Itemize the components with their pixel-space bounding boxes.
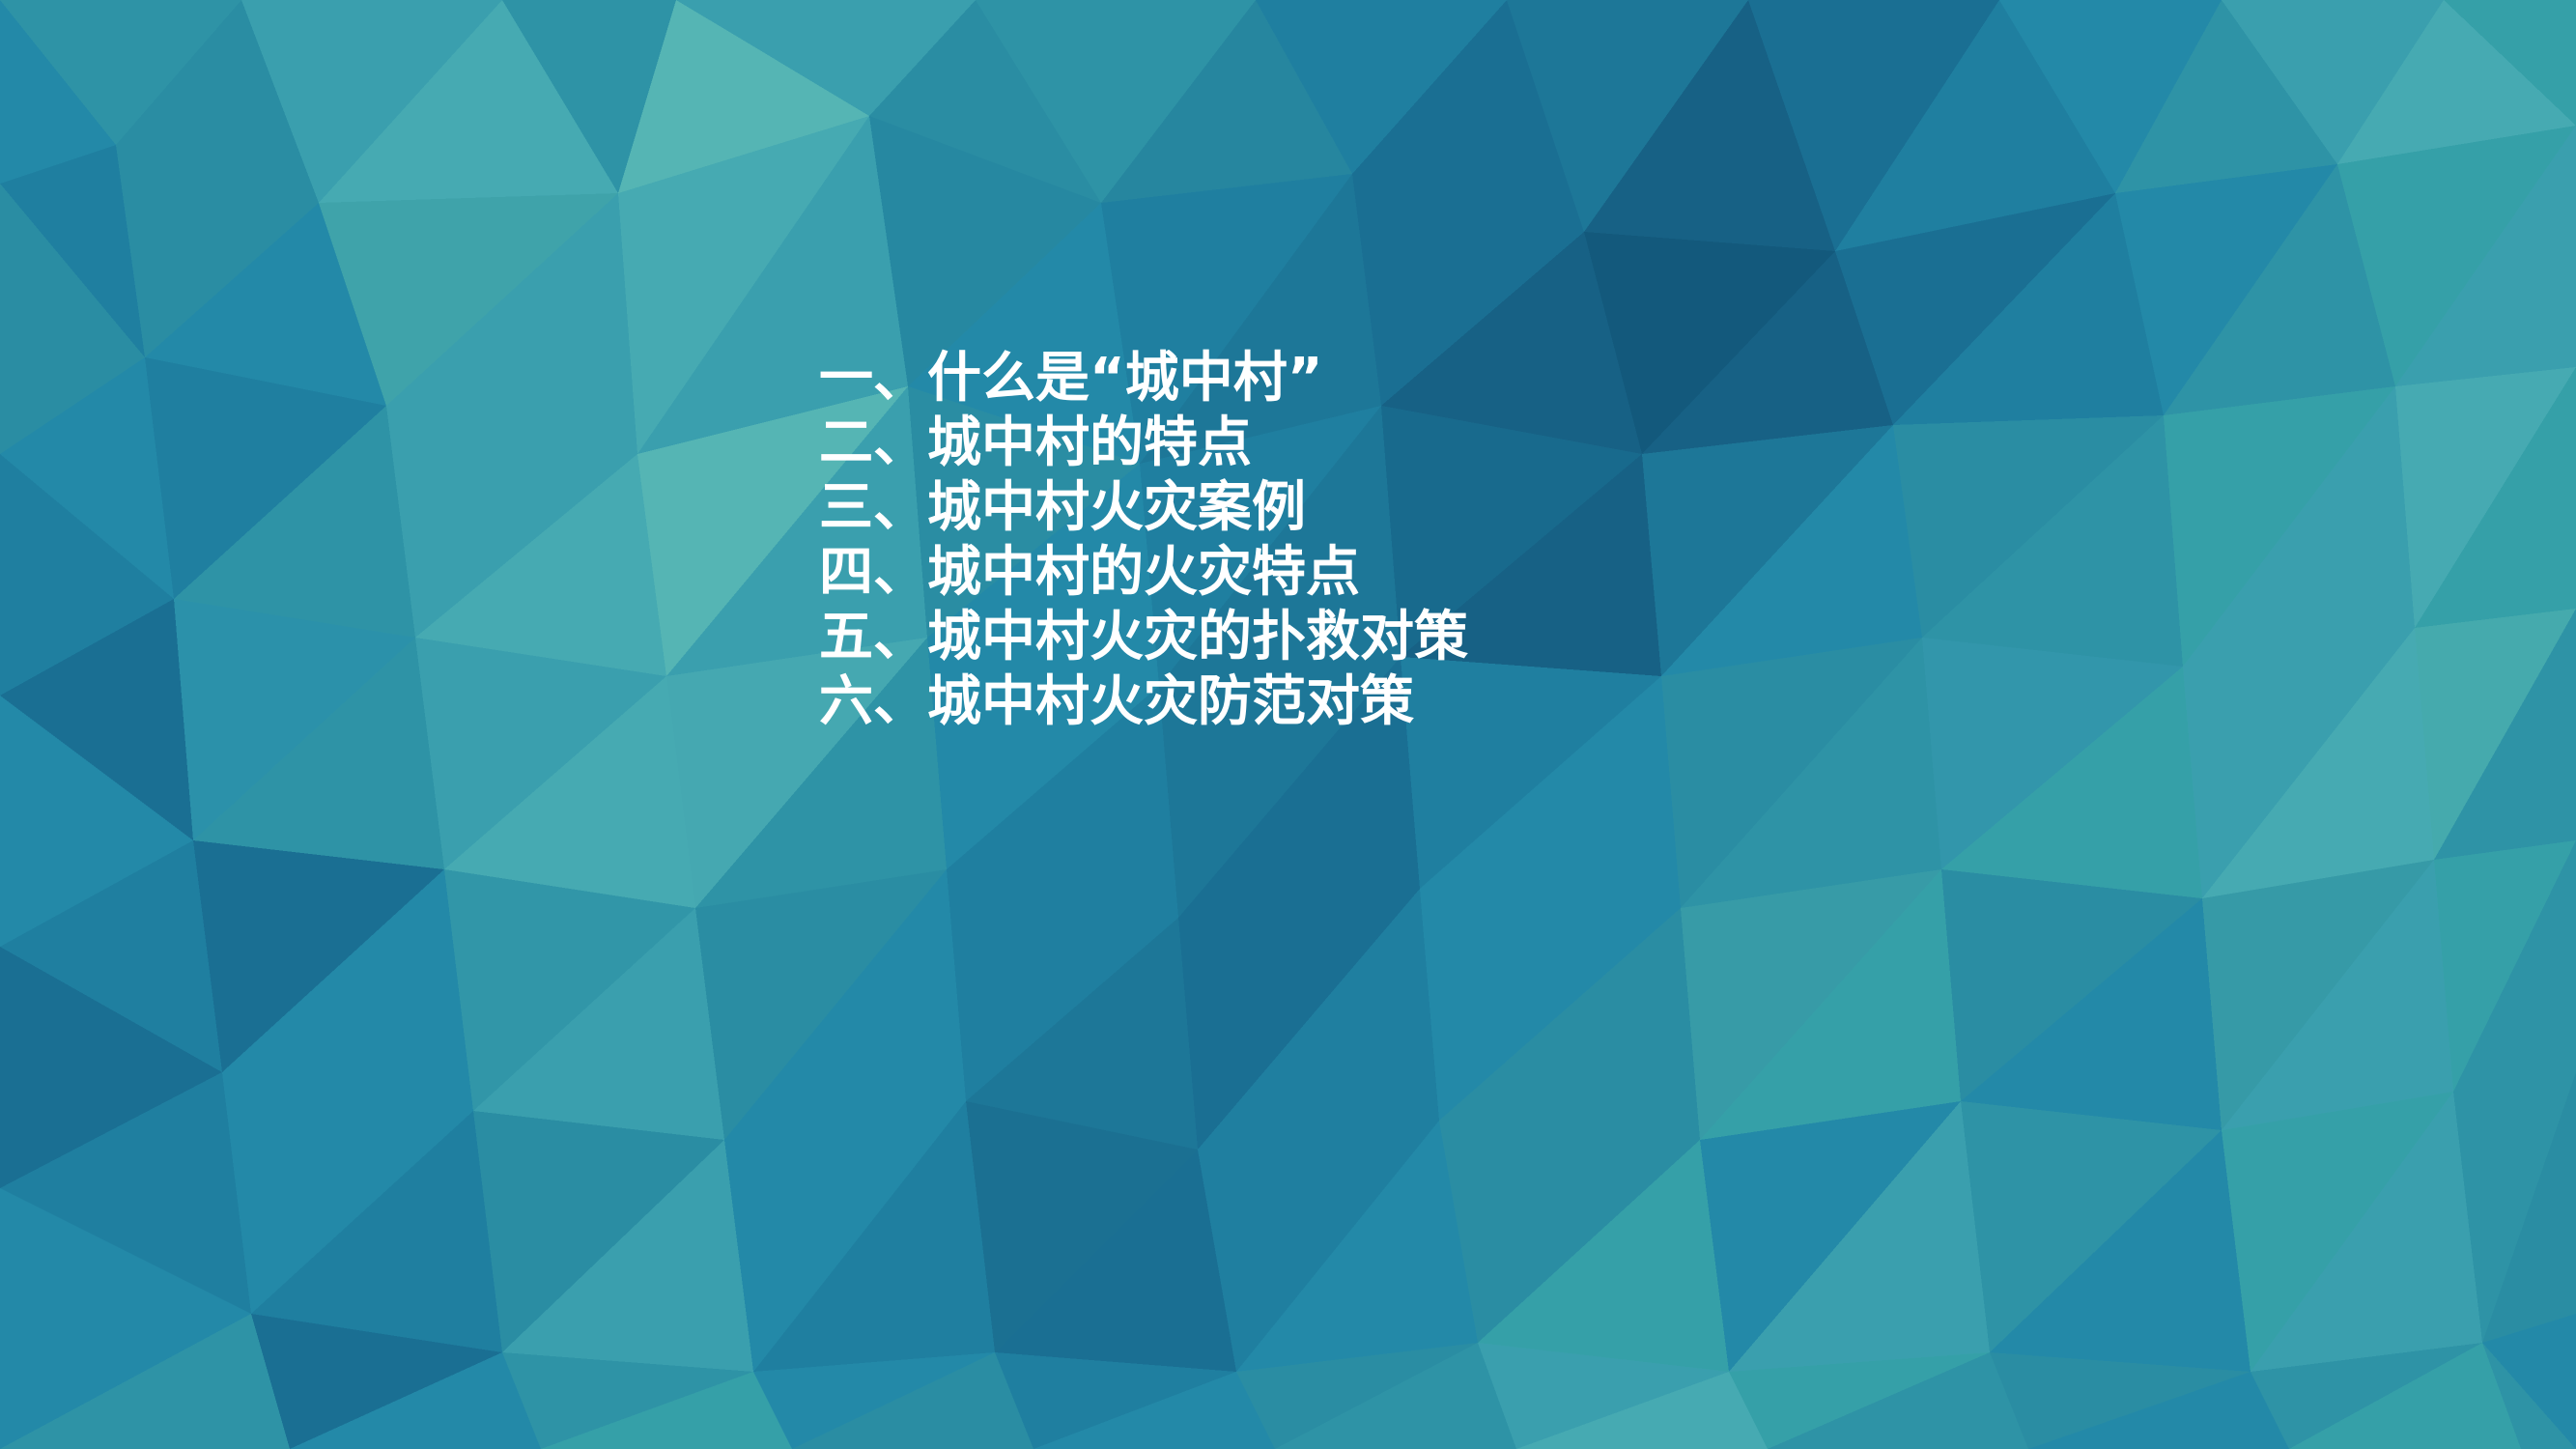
agenda-item-3: 三、城中村火灾案例: [819, 475, 1882, 540]
agenda-item-4: 四、城中村的火灾特点: [819, 540, 1882, 605]
agenda-item-2: 二、城中村的特点: [819, 411, 1882, 475]
presentation-slide: 一、什么是“城中村” 二、城中村的特点 三、城中村火灾案例 四、城中村的火灾特点…: [0, 0, 2576, 1449]
agenda-list: 一、什么是“城中村” 二、城中村的特点 三、城中村火灾案例 四、城中村的火灾特点…: [819, 346, 1882, 734]
agenda-item-6: 六、城中村火灾防范对策: [819, 669, 1882, 734]
agenda-item-1: 一、什么是“城中村”: [819, 346, 1882, 411]
agenda-item-5: 五、城中村火灾的扑救对策: [819, 605, 1882, 669]
